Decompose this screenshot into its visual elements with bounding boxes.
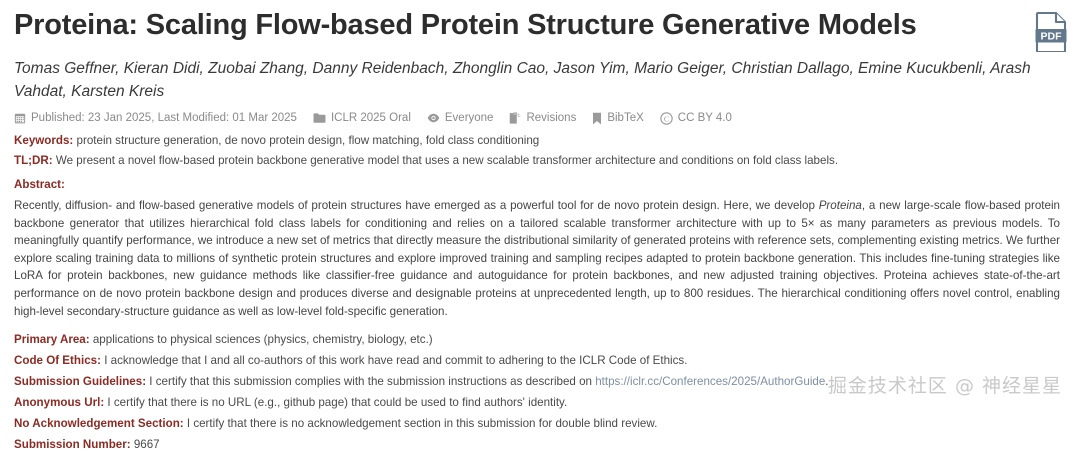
keyword-fields: Keywords: protein structure generation, … <box>0 125 1080 171</box>
meta-label-revisions: Revisions <box>526 113 576 125</box>
field-tldr-value: We present a novel flow-based protein ba… <box>56 154 838 167</box>
meta-item-revisions[interactable]: Revisions <box>509 112 576 125</box>
field-submission-guidelines-key: Submission Guidelines: <box>14 375 146 388</box>
paper-meta-row: Published: 23 Jan 2025, Last Modified: 0… <box>0 104 1080 125</box>
watermark: 掘金技术社区 @ 神经星星 <box>828 371 1062 398</box>
abstract-section: Abstract: Recently, diffusion- and flow-… <box>0 171 1080 320</box>
meta-label-published: Published: 23 Jan 2025, Last Modified: 0… <box>31 113 297 125</box>
field-primary-area-value: applications to physical sciences (physi… <box>93 333 433 346</box>
pdf-file-icon[interactable]: PDF <box>1034 12 1068 52</box>
meta-label-visibility: Everyone <box>445 113 494 125</box>
abstract-part-1: Recently, diffusion- and flow-based gene… <box>14 199 819 212</box>
field-code-of-ethics-value: I acknowledge that I and all co-authors … <box>104 354 687 367</box>
calendar-icon <box>14 112 26 124</box>
field-keywords-value: protein structure generation, de novo pr… <box>77 134 540 147</box>
files-icon <box>509 112 521 125</box>
field-submission-number-key: Submission Number: <box>14 438 131 451</box>
eye-icon <box>427 112 440 124</box>
field-primary-area: Primary Area: applications to physical s… <box>14 330 1066 350</box>
field-keywords: Keywords: protein structure generation, … <box>14 132 1066 151</box>
field-tldr: TL;DR: We present a novel flow-based pro… <box>14 152 1066 171</box>
field-code-of-ethics-key: Code Of Ethics: <box>14 354 101 367</box>
abstract-text: Recently, diffusion- and flow-based gene… <box>14 197 1066 320</box>
meta-item-published: Published: 23 Jan 2025, Last Modified: 0… <box>14 112 297 124</box>
field-submission-guidelines-value: I certify that this submission complies … <box>149 375 595 388</box>
meta-item-license[interactable]: C CC BY 4.0 <box>660 112 732 125</box>
meta-label-venue: ICLR 2025 Oral <box>331 113 411 125</box>
field-no-acknowledgement-section-value: I certify that there is no acknowledgeme… <box>187 417 657 430</box>
field-submission-number-value: 9667 <box>134 438 160 451</box>
field-anonymous-url-key: Anonymous Url: <box>14 396 104 409</box>
field-tldr-key: TL;DR: <box>14 154 53 167</box>
field-submission-number: Submission Number: 9667 <box>14 435 1066 455</box>
copyright-icon: C <box>660 112 673 125</box>
meta-label-bibtex: BibTeX <box>607 113 643 125</box>
meta-label-license: CC BY 4.0 <box>678 113 732 125</box>
field-no-acknowledgement-section: No Acknowledgement Section: I certify th… <box>14 414 1066 434</box>
author-list: Tomas Geffner, Kieran Didi, Zuobai Zhang… <box>0 52 1080 104</box>
svg-text:PDF: PDF <box>1041 30 1063 42</box>
bookmark-icon <box>592 112 602 125</box>
abstract-emphasis-proteina: Proteina <box>819 199 862 212</box>
svg-text:C: C <box>664 114 669 123</box>
paper-listing-page: Proteina: Scaling Flow-based Protein Str… <box>0 0 1080 410</box>
meta-item-bibtex[interactable]: BibTeX <box>592 112 643 125</box>
field-primary-area-key: Primary Area: <box>14 333 90 346</box>
title-row: Proteina: Scaling Flow-based Protein Str… <box>0 0 1080 52</box>
page-title: Proteina: Scaling Flow-based Protein Str… <box>14 8 1024 42</box>
meta-item-venue[interactable]: ICLR 2025 Oral <box>313 112 411 124</box>
abstract-heading: Abstract: <box>14 176 1066 195</box>
field-no-acknowledgement-section-key: No Acknowledgement Section: <box>14 417 184 430</box>
field-anonymous-url-value: I certify that there is no URL (e.g., gi… <box>107 396 567 409</box>
author-guide-link[interactable]: https://iclr.cc/Conferences/2025/AuthorG… <box>595 375 825 388</box>
field-keywords-key: Keywords: <box>14 134 73 147</box>
field-code-of-ethics: Code Of Ethics: I acknowledge that I and… <box>14 351 1066 371</box>
abstract-part-2: , a new large-scale flow-based protein b… <box>14 199 1060 318</box>
meta-item-visibility: Everyone <box>427 112 494 124</box>
folder-icon <box>313 112 326 124</box>
